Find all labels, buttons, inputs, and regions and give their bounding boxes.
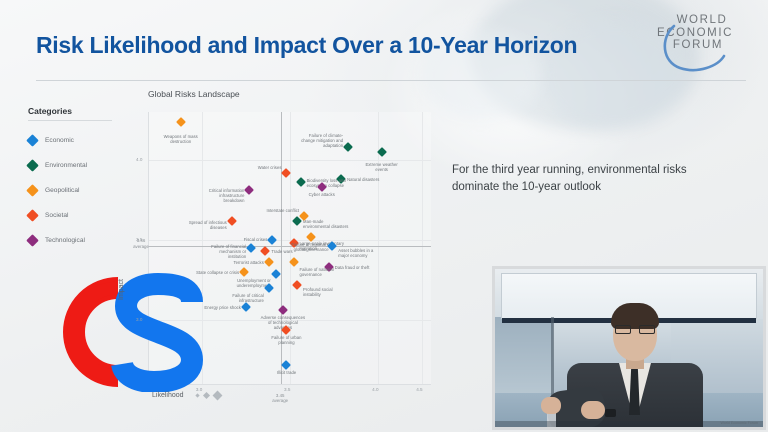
legend-swatch-icon xyxy=(26,209,39,222)
world-economic-forum-logo: WORLD ECONOMIC FORUM xyxy=(640,14,750,78)
data-point[interactable] xyxy=(260,246,270,256)
data-point-label: Failure of climate-change mitigation and… xyxy=(297,133,343,148)
y-axis-label: Impact xyxy=(118,279,125,300)
data-point-label: Interstate conflict xyxy=(253,208,299,213)
legend-item-label: Societal xyxy=(45,212,68,219)
slide-canvas: Risk Likelihood and Impact Over a 10-Yea… xyxy=(0,0,768,432)
speaker-watch xyxy=(605,409,616,417)
legend-item-economic[interactable]: Economic xyxy=(28,128,112,153)
wef-arc-icon xyxy=(658,20,732,74)
gridline-vertical xyxy=(422,112,423,384)
data-point[interactable] xyxy=(271,269,281,279)
scale-swatch-icon xyxy=(195,393,199,397)
data-point-label: Failure of urban planning xyxy=(263,335,309,345)
legend-swatch-icon xyxy=(26,234,39,247)
legend-swatch-icon xyxy=(26,134,39,147)
data-point[interactable] xyxy=(227,216,237,226)
speaker-hand-right xyxy=(581,401,605,419)
data-point[interactable] xyxy=(246,243,256,253)
data-point-label: Terrorist attacks xyxy=(218,260,264,265)
video-caption: World Economic Forum xyxy=(721,421,758,425)
data-point-label: Extreme weather events xyxy=(359,162,405,172)
chart-legend: Categories EconomicEnvironmentalGeopolit… xyxy=(28,106,112,253)
x-axis-tick: 4.0 xyxy=(372,387,378,392)
data-point[interactable] xyxy=(264,257,274,267)
data-point[interactable] xyxy=(245,185,255,195)
legend-item-label: Geopolitical xyxy=(45,187,79,194)
data-point-label: Man-made environmental disasters xyxy=(303,219,349,229)
video-inset[interactable]: World Economic Forum xyxy=(492,266,766,430)
data-point-label: Biodiversity loss and ecosystem collapse xyxy=(307,178,353,188)
gridline-horizontal xyxy=(149,160,431,161)
data-point-label: Weapons of mass destruction xyxy=(158,134,204,144)
legend-item-technological[interactable]: Technological xyxy=(28,228,112,253)
scale-size-legend xyxy=(196,392,221,399)
data-point-label: Spread of infectious diseases xyxy=(181,220,227,230)
callout-text: For the third year running, environmenta… xyxy=(452,162,700,196)
y-axis-tick: 3.0 xyxy=(136,317,142,322)
data-point-label: Asset bubbles in a major economy xyxy=(338,248,384,258)
header-divider xyxy=(36,80,746,81)
data-point-label: Failure of national governance xyxy=(300,267,346,277)
data-point-label: Profound social instability xyxy=(303,287,349,297)
legend-item-label: Economic xyxy=(45,137,74,144)
data-point-label: Fiscal crises xyxy=(221,237,267,242)
legend-swatch-icon xyxy=(26,159,39,172)
legend-divider xyxy=(28,120,112,121)
data-point[interactable] xyxy=(176,117,186,127)
data-point-label: Water crises xyxy=(235,165,281,170)
speaker-hand-left xyxy=(541,397,561,414)
data-point[interactable] xyxy=(292,280,302,290)
data-point-label: Failure of financial mechanism or instit… xyxy=(200,244,246,259)
y-axis-tick: 4.0 xyxy=(136,157,142,162)
legend-swatch-icon xyxy=(26,184,39,197)
data-point[interactable] xyxy=(267,235,277,245)
y-average-label: 3.46average xyxy=(128,238,154,248)
data-point-label: Illicit trade xyxy=(263,370,309,375)
data-point-label: Trade wars xyxy=(271,249,317,254)
data-point-label: Failure of critical infrastructure xyxy=(218,293,264,303)
x-axis-tick: 4.5 xyxy=(416,387,422,392)
legend-item-label: Technological xyxy=(45,237,85,244)
data-point-label: Natural disasters xyxy=(347,177,393,182)
page-title: Risk Likelihood and Impact Over a 10-Yea… xyxy=(36,32,577,59)
data-point[interactable] xyxy=(343,142,353,152)
data-point[interactable] xyxy=(296,177,306,187)
x-average-label: 3.45average xyxy=(262,393,298,403)
data-point[interactable] xyxy=(239,267,249,277)
legend-item-environmental[interactable]: Environmental xyxy=(28,153,112,178)
chart-title: Global Risks Landscape xyxy=(148,89,240,99)
x-axis-label: Likelihood xyxy=(152,392,184,399)
data-point-label: Cyber attacks xyxy=(299,192,345,197)
legend-item-label: Environmental xyxy=(45,162,87,169)
scale-swatch-icon xyxy=(203,392,210,399)
x-axis-tick: 3.5 xyxy=(284,387,290,392)
legend-item-societal[interactable]: Societal xyxy=(28,203,112,228)
speaker-glasses-icon xyxy=(615,325,655,334)
scale-swatch-icon xyxy=(213,391,223,401)
legend-title: Categories xyxy=(28,106,112,120)
data-point-label: Critical information infrastructure brea… xyxy=(198,188,244,203)
legend-item-geopolitical[interactable]: Geopolitical xyxy=(28,178,112,203)
data-point[interactable] xyxy=(278,305,288,315)
data-point[interactable] xyxy=(241,302,251,312)
